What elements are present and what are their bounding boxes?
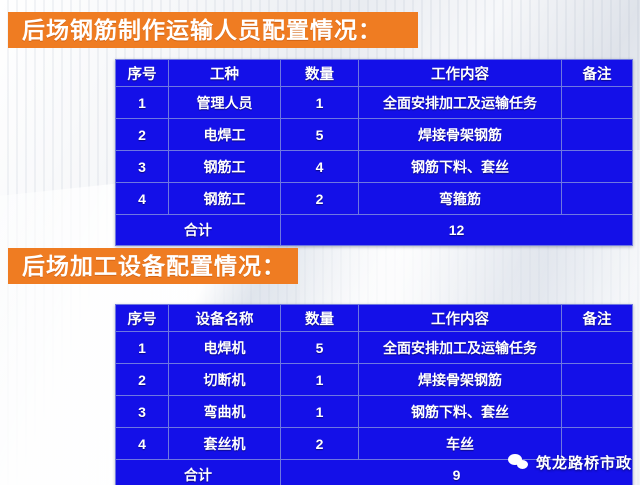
table-row: 1 管理人员 1 全面安排加工及运输任务 (116, 87, 633, 119)
table-row: 4 套丝机 2 车丝 (116, 428, 633, 460)
equipment-configuration-table: 序号 设备名称 数量 工作内容 备注 1 电焊机 5 全面安排加工及运输任务 2… (115, 304, 633, 485)
header-cell-index: 序号 (116, 305, 169, 332)
cell-work: 车丝 (359, 428, 562, 460)
cell-type: 电焊工 (169, 119, 281, 151)
cell-index: 1 (116, 87, 169, 119)
cell-index: 4 (116, 183, 169, 215)
cell-work: 弯箍筋 (359, 183, 562, 215)
cell-type: 管理人员 (169, 87, 281, 119)
cell-index: 2 (116, 364, 169, 396)
table-total-row: 合计 12 (116, 215, 633, 246)
section-title-personnel: 后场钢筋制作运输人员配置情况： (8, 12, 418, 48)
cell-remark (562, 428, 633, 460)
cell-index: 4 (116, 428, 169, 460)
cell-qty: 4 (281, 151, 359, 183)
cell-remark (562, 332, 633, 364)
header-cell-device: 设备名称 (169, 305, 281, 332)
cell-type: 钢筋工 (169, 151, 281, 183)
cell-remark (562, 87, 633, 119)
cell-qty: 1 (281, 396, 359, 428)
header-cell-type: 工种 (169, 60, 281, 87)
cell-qty: 5 (281, 332, 359, 364)
cell-remark (562, 151, 633, 183)
cell-remark (562, 396, 633, 428)
cell-work: 焊接骨架钢筋 (359, 119, 562, 151)
table-row: 1 电焊机 5 全面安排加工及运输任务 (116, 332, 633, 364)
table-row: 2 切断机 1 焊接骨架钢筋 (116, 364, 633, 396)
cell-index: 2 (116, 119, 169, 151)
cell-device: 电焊机 (169, 332, 281, 364)
cell-type: 钢筋工 (169, 183, 281, 215)
header-cell-index: 序号 (116, 60, 169, 87)
cell-qty: 2 (281, 183, 359, 215)
table-row: 3 弯曲机 1 钢筋下料、套丝 (116, 396, 633, 428)
header-cell-work: 工作内容 (359, 60, 562, 87)
table-row: 4 钢筋工 2 弯箍筋 (116, 183, 633, 215)
cell-work: 钢筋下料、套丝 (359, 396, 562, 428)
table-header-row: 序号 工种 数量 工作内容 备注 (116, 60, 633, 87)
cell-remark (562, 364, 633, 396)
cell-work: 全面安排加工及运输任务 (359, 332, 562, 364)
cell-work: 全面安排加工及运输任务 (359, 87, 562, 119)
table-row: 2 电焊工 5 焊接骨架钢筋 (116, 119, 633, 151)
total-label: 合计 (116, 460, 281, 485)
cell-qty: 2 (281, 428, 359, 460)
cell-index: 3 (116, 396, 169, 428)
cell-qty: 1 (281, 87, 359, 119)
cell-device: 弯曲机 (169, 396, 281, 428)
header-cell-qty: 数量 (281, 305, 359, 332)
personnel-configuration-table: 序号 工种 数量 工作内容 备注 1 管理人员 1 全面安排加工及运输任务 2 … (115, 59, 633, 246)
slide-canvas: 后场钢筋制作运输人员配置情况： 序号 工种 数量 工作内容 备注 1 管理人员 … (0, 0, 640, 485)
cell-qty: 1 (281, 364, 359, 396)
cell-work: 钢筋下料、套丝 (359, 151, 562, 183)
cell-index: 3 (116, 151, 169, 183)
header-cell-remark: 备注 (562, 305, 633, 332)
total-label: 合计 (116, 215, 281, 246)
table-total-row: 合计 9 (116, 460, 633, 485)
cell-work: 焊接骨架钢筋 (359, 364, 562, 396)
header-cell-work: 工作内容 (359, 305, 562, 332)
cell-remark (562, 183, 633, 215)
cell-remark (562, 119, 633, 151)
header-cell-remark: 备注 (562, 60, 633, 87)
cell-device: 套丝机 (169, 428, 281, 460)
section-title-equipment: 后场加工设备配置情况： (8, 248, 298, 284)
cell-device: 切断机 (169, 364, 281, 396)
total-value: 9 (281, 460, 633, 485)
table-header-row: 序号 设备名称 数量 工作内容 备注 (116, 305, 633, 332)
cell-qty: 5 (281, 119, 359, 151)
cell-index: 1 (116, 332, 169, 364)
header-cell-qty: 数量 (281, 60, 359, 87)
total-value: 12 (281, 215, 633, 246)
table-row: 3 钢筋工 4 钢筋下料、套丝 (116, 151, 633, 183)
